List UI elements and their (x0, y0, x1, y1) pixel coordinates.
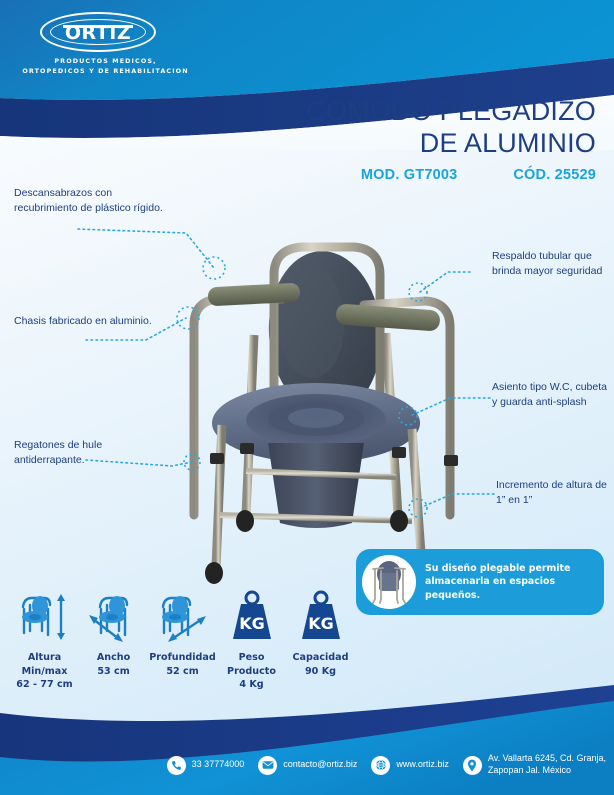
footer-website-text: www.ortiz.biz (396, 759, 449, 771)
phone-icon (167, 756, 186, 775)
folded-chair-icon (362, 555, 416, 609)
callout-height-increment: Incremento de altura de 1” en 1” (496, 478, 608, 508)
weight-badge-text: KG (239, 614, 265, 633)
logo-bar (63, 25, 133, 28)
callout-rubber-tips: Regatones de hule antiderrapante. (14, 438, 164, 468)
specifications-row: AlturaMin/max62 - 77 cm (10, 583, 355, 692)
spec-capacity-label: Capacidad90 Kg (286, 651, 355, 678)
footer-address-line2: Zapopan Jal. México (488, 765, 571, 775)
footer-contact-list: 33 37774000 contacto@ortiz.biz (0, 748, 614, 782)
callout-backrest: Respaldo tubular que brinda mayor seguri… (492, 249, 608, 279)
spec-width: Ancho53 cm (79, 583, 148, 678)
product-spec-sheet: ORTIZ PRODUCTOS MEDICOS, ORTOPEDICOS Y D… (0, 0, 614, 795)
spec-depth: Profundidad52 cm (148, 583, 217, 678)
page-title-line2: DE ALUMINIO (266, 128, 596, 160)
footer-phone-text: 33 37774000 (192, 759, 245, 771)
spec-capacity: KG Capacidad90 Kg (286, 583, 355, 678)
location-pin-icon (463, 756, 482, 775)
brand-tagline-line2: ORTOPEDICOS Y DE REHABILITACION (18, 67, 193, 77)
product-code: CÓD. 25529 (513, 167, 596, 183)
page-footer: 33 37774000 contacto@ortiz.biz (0, 685, 614, 795)
footer-address: Av. Vallarta 6245, Cd. Granja, Zapopan J… (463, 753, 606, 776)
chair-width-icon (79, 583, 148, 645)
callout-chassis: Chasis fabricado en aluminio. (14, 314, 164, 329)
product-photo-commode-chair (150, 215, 480, 605)
folding-info-box: Su diseño plegable permite almacenarla e… (356, 549, 604, 615)
footer-address-text: Av. Vallarta 6245, Cd. Granja, Zapopan J… (488, 753, 606, 776)
globe-icon (371, 756, 390, 775)
spec-width-label: Ancho53 cm (79, 651, 148, 678)
capacity-badge-text: KG (308, 614, 334, 633)
logo-inner-ellipse: ORTIZ (50, 19, 146, 45)
folded-chair-thumbnail (362, 555, 416, 609)
brand-logo: ORTIZ PRODUCTOS MEDICOS, ORTOPEDICOS Y D… (18, 12, 208, 77)
brand-tagline: PRODUCTOS MEDICOS, ORTOPEDICOS Y DE REHA… (18, 57, 193, 77)
logo-ellipse: ORTIZ (40, 12, 156, 52)
weight-kg-icon: KG (286, 583, 355, 645)
chair-depth-icon (148, 583, 217, 645)
footer-phone[interactable]: 33 37774000 (167, 756, 245, 775)
callout-seat: Asiento tipo W.C, cubeta y guarda anti-s… (492, 380, 608, 410)
footer-email[interactable]: contacto@ortiz.biz (258, 756, 357, 775)
brand-tagline-line1: PRODUCTOS MEDICOS, (18, 57, 193, 67)
product-title-block: COMODO PLEGADIZO DE ALUMINIO MOD. GT7003… (266, 96, 596, 183)
page-title-line1: COMODO PLEGADIZO (266, 96, 596, 128)
product-model: MOD. GT7003 (361, 167, 457, 183)
weight-kg-icon: KG (217, 583, 286, 645)
callout-armrest: Descansabrazos con recubrimiento de plás… (14, 186, 164, 216)
model-code-row: MOD. GT7003 CÓD. 25529 (266, 167, 596, 183)
spec-depth-label: Profundidad52 cm (148, 651, 217, 678)
footer-website[interactable]: www.ortiz.biz (371, 756, 449, 775)
chair-height-icon (10, 583, 79, 645)
footer-email-text: contacto@ortiz.biz (283, 759, 357, 771)
spec-height: AlturaMin/max62 - 77 cm (10, 583, 79, 692)
footer-address-line1: Av. Vallarta 6245, Cd. Granja, (488, 753, 606, 763)
email-icon (258, 756, 277, 775)
folding-info-text: Su diseño plegable permite almacenarla e… (425, 562, 604, 603)
spec-product-weight: KG PesoProducto4 Kg (217, 583, 286, 692)
